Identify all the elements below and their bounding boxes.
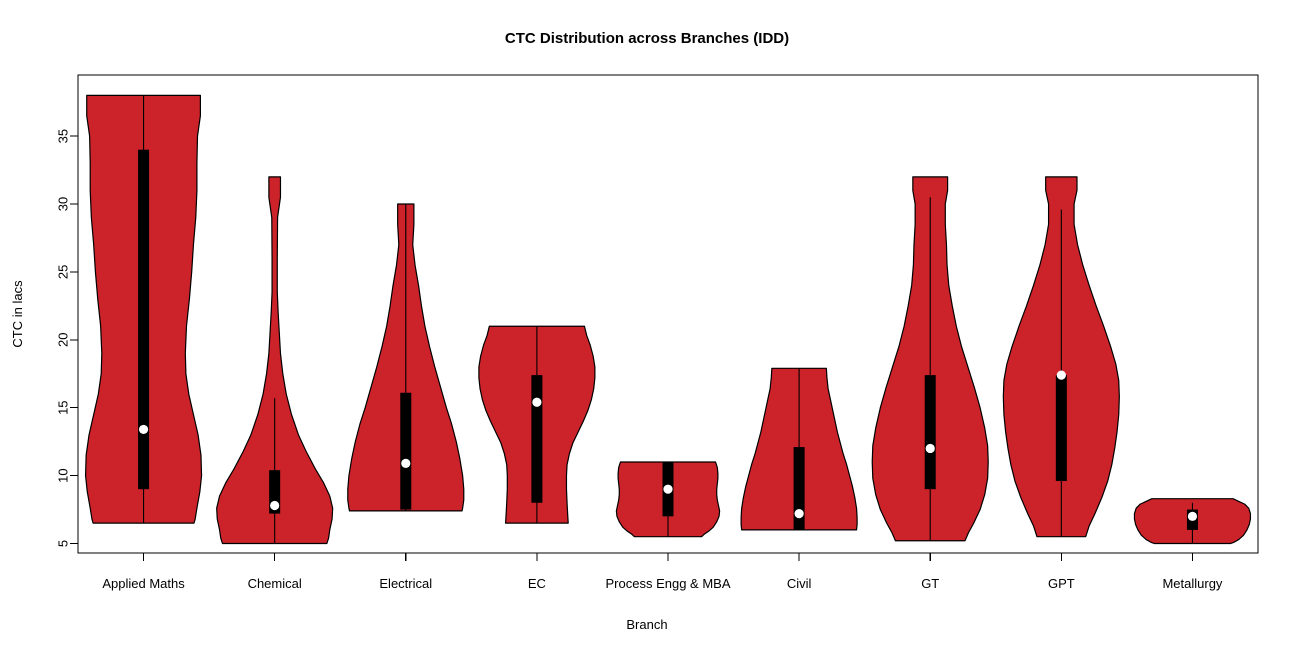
x-tick-label-8: Metallurgy xyxy=(1162,576,1222,591)
chart-title: CTC Distribution across Branches (IDD) xyxy=(505,30,789,47)
violin-civil[interactable] xyxy=(741,368,857,530)
y-tick-label: 10 xyxy=(56,468,71,482)
violin-process-engg-mba[interactable] xyxy=(616,462,719,537)
violin-gpt[interactable] xyxy=(1003,177,1119,537)
violin-plot-figure: CTC Distribution across Branches (IDD) B… xyxy=(0,0,1294,653)
y-tick-label: 20 xyxy=(56,333,71,347)
x-tick-label-1: Chemical xyxy=(248,576,302,591)
violin-ec[interactable] xyxy=(479,326,595,523)
median-marker xyxy=(1188,512,1197,521)
y-tick-label: 25 xyxy=(56,265,71,279)
median-marker xyxy=(401,459,410,468)
x-axis: Applied MathsChemicalElectricalECProcess… xyxy=(102,553,1223,591)
median-marker xyxy=(139,425,148,434)
violin-electrical[interactable] xyxy=(348,204,464,511)
x-tick-label-7: GPT xyxy=(1048,576,1075,591)
violin-chemical[interactable] xyxy=(217,177,333,544)
iqr-box xyxy=(925,375,936,489)
y-axis-title: CTC in lacs xyxy=(10,280,25,348)
y-tick-label: 30 xyxy=(56,197,71,211)
median-marker xyxy=(795,509,804,518)
median-marker xyxy=(926,444,935,453)
x-tick-label-5: Civil xyxy=(787,576,812,591)
y-tick-label: 5 xyxy=(56,540,71,547)
iqr-box xyxy=(138,150,149,489)
iqr-box xyxy=(531,375,542,503)
x-tick-label-4: Process Engg & MBA xyxy=(606,576,731,591)
x-tick-label-2: Electrical xyxy=(379,576,432,591)
violin-metallurgy[interactable] xyxy=(1134,499,1250,544)
violin-gt[interactable] xyxy=(872,177,988,541)
iqr-box xyxy=(400,393,411,510)
y-tick-label: 15 xyxy=(56,400,71,414)
violin-series-group xyxy=(86,95,1251,543)
x-axis-title: Branch xyxy=(626,617,667,632)
iqr-box xyxy=(1056,375,1067,481)
median-marker xyxy=(1057,371,1066,380)
x-tick-label-0: Applied Maths xyxy=(102,576,185,591)
median-marker xyxy=(532,398,541,407)
violin-plot-canvas: CTC Distribution across Branches (IDD) B… xyxy=(0,0,1294,653)
x-tick-label-3: EC xyxy=(528,576,546,591)
median-marker xyxy=(270,501,279,510)
violin-applied-maths[interactable] xyxy=(86,95,202,523)
y-tick-label: 35 xyxy=(56,129,71,143)
x-tick-label-6: GT xyxy=(921,576,939,591)
y-axis: 5101520253035 xyxy=(56,129,79,547)
median-marker xyxy=(663,485,672,494)
